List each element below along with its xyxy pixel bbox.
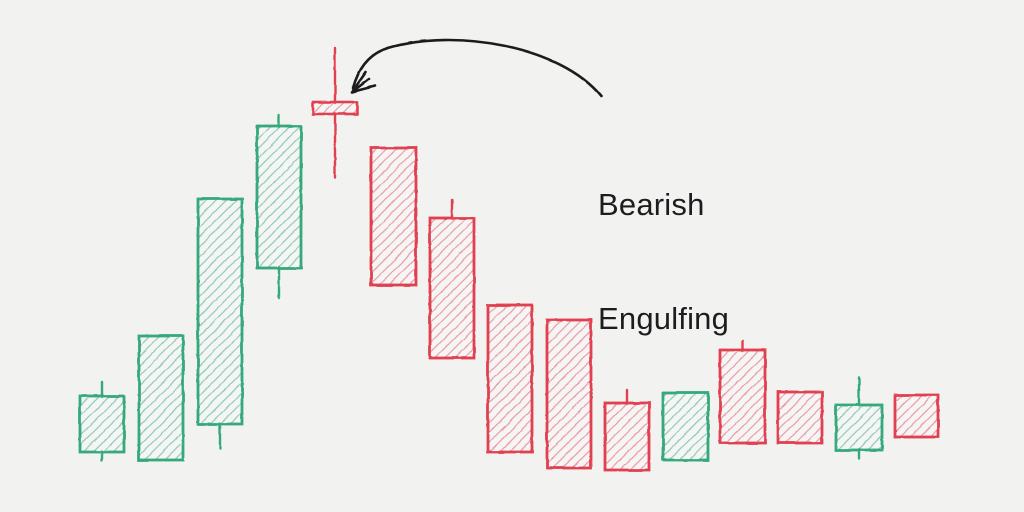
annotation-text-line-2: Engulfing: [598, 300, 729, 338]
candle-3-body: [198, 199, 242, 424]
chart-canvas: [0, 0, 1024, 512]
candle-series: [80, 48, 938, 470]
candle-5-body: [313, 102, 357, 114]
candlestick-chart-illustration: Bearish Engulfing: [0, 0, 1024, 512]
candle-1-bullish: [80, 382, 124, 461]
candle-6-bearish: [371, 148, 416, 285]
candle-4-body: [257, 126, 301, 268]
candle-6-body: [371, 148, 416, 285]
candle-14-bullish: [836, 377, 882, 459]
candle-15-bearish: [895, 395, 938, 437]
candle-8-body: [488, 305, 532, 452]
annotation-text: Bearish Engulfing: [598, 110, 729, 414]
curved-arrow-pointing-to-doji: [352, 40, 601, 96]
candle-9-body: [547, 320, 591, 468]
candle-4-bullish: [257, 115, 301, 298]
candle-2-body: [139, 336, 183, 460]
candle-7-bearish: [430, 200, 474, 358]
candle-3-bullish: [198, 199, 242, 449]
candle-7-body: [430, 218, 474, 358]
candle-9-bearish: [547, 320, 591, 468]
annotation-text-line-1: Bearish: [598, 186, 729, 224]
candle-2-bullish: [139, 336, 183, 460]
candle-13-bearish: [778, 392, 822, 443]
candle-13-body: [778, 392, 822, 443]
candle-1-body: [80, 396, 124, 452]
candle-5-bearish: [313, 48, 357, 178]
candle-14-body: [836, 405, 882, 450]
candle-15-body: [895, 395, 938, 437]
candle-8-bearish: [488, 305, 532, 452]
